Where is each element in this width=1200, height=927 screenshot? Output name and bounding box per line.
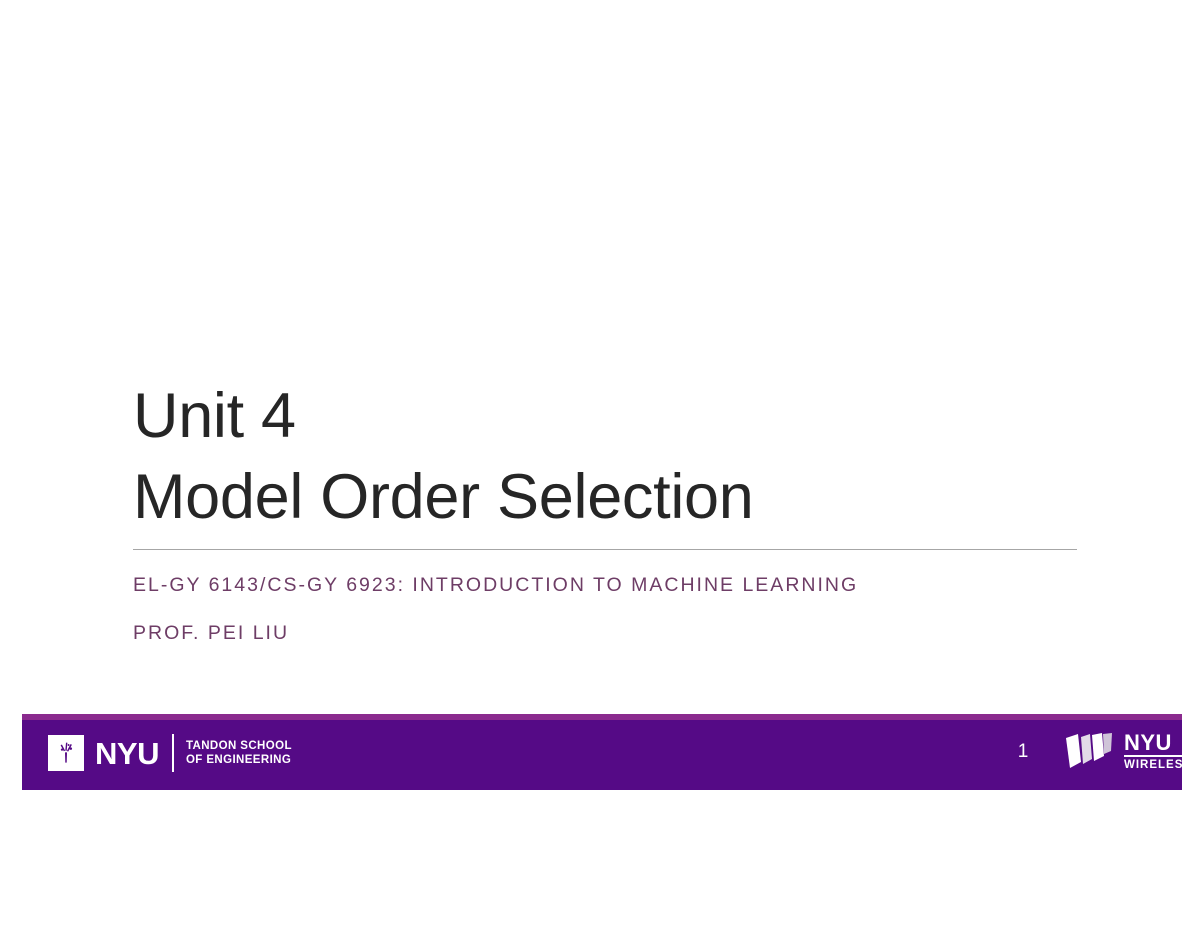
slide-footer-bar: NYU TANDON SCHOOL OF ENGINEERING 1 NYU <box>22 714 1182 790</box>
wireless-nyu-wordmark: NYU <box>1124 731 1192 757</box>
title-line-1: Unit 4 <box>133 376 1078 457</box>
tandon-school-line-1: TANDON SCHOOL <box>186 739 292 753</box>
presentation-slide: Unit 4 Model Order Selection EL-GY 6143/… <box>0 0 1200 927</box>
wireless-w-mark-icon <box>1064 732 1116 772</box>
nyu-wireless-logo: NYU WIRELESS <box>1064 728 1192 776</box>
logo-divider <box>172 734 174 772</box>
tandon-school-line-2: OF ENGINEERING <box>186 753 292 767</box>
title-line-2: Model Order Selection <box>133 457 1078 538</box>
nyu-tandon-logo: NYU TANDON SCHOOL OF ENGINEERING <box>48 730 292 776</box>
slide-subtitle: EL-GY 6143/CS-GY 6923: INTRODUCTION TO M… <box>133 562 1093 658</box>
tandon-school-text: TANDON SCHOOL OF ENGINEERING <box>186 739 292 768</box>
subtitle-instructor-line: PROF. PEI LIU <box>133 610 1093 658</box>
subtitle-course-line: EL-GY 6143/CS-GY 6923: INTRODUCTION TO M… <box>133 562 1093 610</box>
torch-icon <box>48 735 84 771</box>
nyu-wordmark: NYU <box>95 738 159 769</box>
wireless-sub-label: WIRELESS <box>1124 758 1192 774</box>
footer-accent-strip <box>22 714 1182 720</box>
title-divider-rule <box>133 549 1077 550</box>
slide-title: Unit 4 Model Order Selection <box>133 376 1078 537</box>
wireless-text-block: NYU WIRELESS <box>1124 731 1192 774</box>
slide-number: 1 <box>1007 742 1039 761</box>
